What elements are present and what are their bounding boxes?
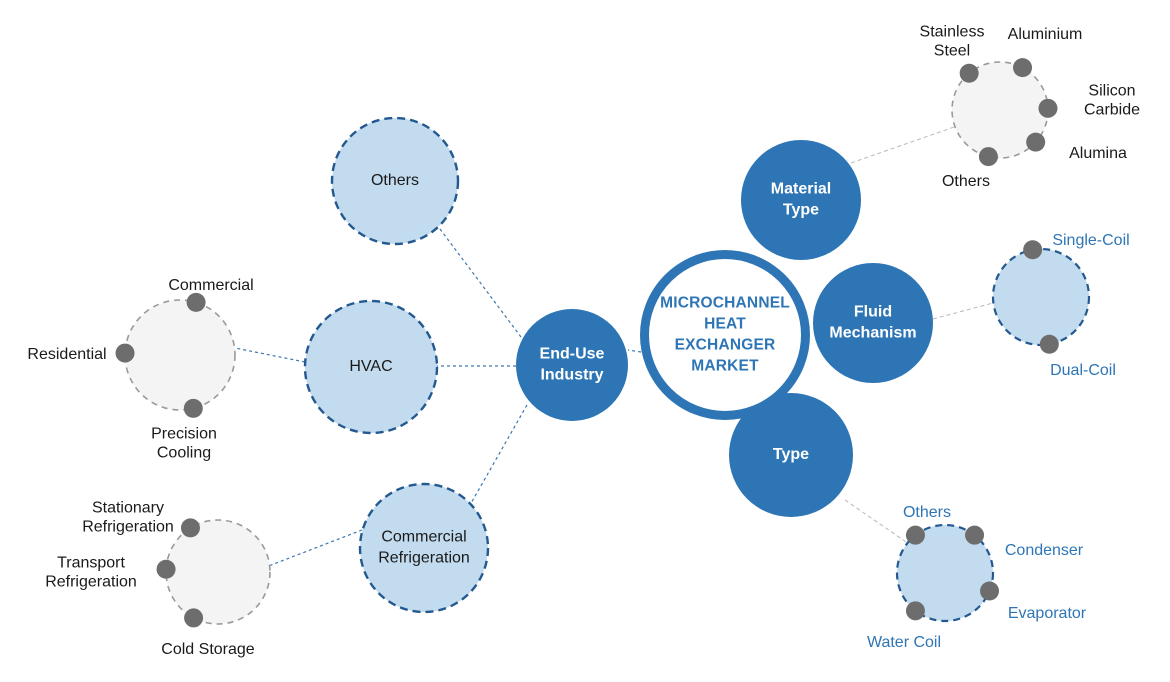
center-node[interactable]: MICROCHANNELHEATEXCHANGERMARKET <box>645 255 806 416</box>
leaf-dot[interactable] <box>965 526 984 545</box>
leaf-label: Others <box>942 173 990 190</box>
branch-circle[interactable] <box>360 484 488 612</box>
market-segmentation-diagram: StainlessSteelAluminiumSiliconCarbideAlu… <box>0 0 1170 682</box>
leaf-dot[interactable] <box>187 293 206 312</box>
leaf-dot[interactable] <box>980 581 999 600</box>
branch-node-commercial-refrigeration-branch[interactable]: CommercialRefrigeration <box>360 484 488 612</box>
leaf-label: PrecisionCooling <box>151 426 217 462</box>
leaf-dot[interactable] <box>184 608 203 627</box>
branch-node-others-branch[interactable]: Others <box>332 118 458 244</box>
leaf-label: Others <box>903 504 951 521</box>
leaf-label: TransportRefrigeration <box>45 555 137 591</box>
leaf-dot[interactable] <box>184 399 203 418</box>
leaf-label: SiliconCarbide <box>1084 83 1140 119</box>
leaf-label: Condenser <box>1005 542 1084 559</box>
branch-node-hvac-branch[interactable]: HVAC <box>305 301 437 433</box>
leaf-label: Commercial <box>168 277 253 294</box>
connector-center-to-end-use <box>628 350 641 352</box>
connector-commercial-refrigeration-to-cluster <box>266 530 362 567</box>
cluster-circle[interactable] <box>166 520 270 624</box>
hub-node-end-use-industry[interactable]: End-UseIndustry <box>516 309 628 421</box>
leaf-dot[interactable] <box>116 344 135 363</box>
connector-fluid-hub-to-cluster <box>933 303 993 319</box>
center-node-ring[interactable] <box>645 255 806 416</box>
leaf-label: Evaporator <box>1008 605 1087 622</box>
leaf-label: Residential <box>27 346 106 363</box>
cluster-circle[interactable] <box>125 300 235 410</box>
hub-circle[interactable] <box>813 263 933 383</box>
leaf-dot[interactable] <box>1026 133 1045 152</box>
connector-hvac-to-cluster <box>235 348 305 362</box>
hub-node-label: Type <box>773 446 809 463</box>
leaf-label: Cold Storage <box>161 641 254 658</box>
hub-node-fluid-mechanism[interactable]: FluidMechanism <box>813 263 933 383</box>
leaf-dot[interactable] <box>181 518 200 537</box>
connector-end-use-to-others <box>440 229 521 337</box>
leaf-dot[interactable] <box>1023 240 1042 259</box>
hub-circle[interactable] <box>516 309 628 421</box>
leaf-label: Dual-Coil <box>1050 362 1116 379</box>
leaf-dot[interactable] <box>979 147 998 166</box>
leaf-label: Single-Coil <box>1052 232 1129 249</box>
leaf-dot[interactable] <box>960 64 979 83</box>
leaf-label: StationaryRefrigeration <box>82 500 174 536</box>
leaf-dot[interactable] <box>157 560 176 579</box>
branch-node-label: Others <box>371 172 419 189</box>
diagram-canvas: StainlessSteelAluminiumSiliconCarbideAlu… <box>0 0 1170 682</box>
connector-material-hub-to-cluster <box>851 126 957 163</box>
cluster-commercial-refrigeration-cluster: StationaryRefrigerationTransportRefriger… <box>45 500 270 659</box>
center-node-layer: MICROCHANNELHEATEXCHANGERMARKET <box>645 255 806 416</box>
leaf-dot[interactable] <box>1013 58 1032 77</box>
branches-layer: OthersHVACCommercialRefrigeration <box>305 118 488 612</box>
connector-end-use-to-commercial-refrigeration <box>470 405 527 505</box>
leaf-dot[interactable] <box>906 601 925 620</box>
leaf-dot[interactable] <box>906 526 925 545</box>
hub-circle[interactable] <box>741 140 861 260</box>
connector-type-hub-to-cluster <box>845 500 912 546</box>
leaf-label: Aluminium <box>1008 26 1083 43</box>
branch-node-label: HVAC <box>349 358 392 375</box>
leaf-label: Water Coil <box>867 634 941 651</box>
cluster-type-cluster: OthersCondenserEvaporatorWater Coil <box>867 504 1087 651</box>
leaf-dot[interactable] <box>1038 99 1057 118</box>
cluster-fluid-mechanism-cluster: Single-CoilDual-Coil <box>993 232 1130 379</box>
leaf-label: StainlessSteel <box>920 24 985 60</box>
hub-node-material-type[interactable]: MaterialType <box>741 140 861 260</box>
cluster-material-type-cluster: StainlessSteelAluminiumSiliconCarbideAlu… <box>920 24 1141 191</box>
leaf-dot[interactable] <box>1040 335 1059 354</box>
cluster-hvac-cluster: CommercialResidentialPrecisionCooling <box>27 277 253 462</box>
leaf-label: Alumina <box>1069 145 1127 162</box>
cluster-circle[interactable] <box>993 249 1089 345</box>
